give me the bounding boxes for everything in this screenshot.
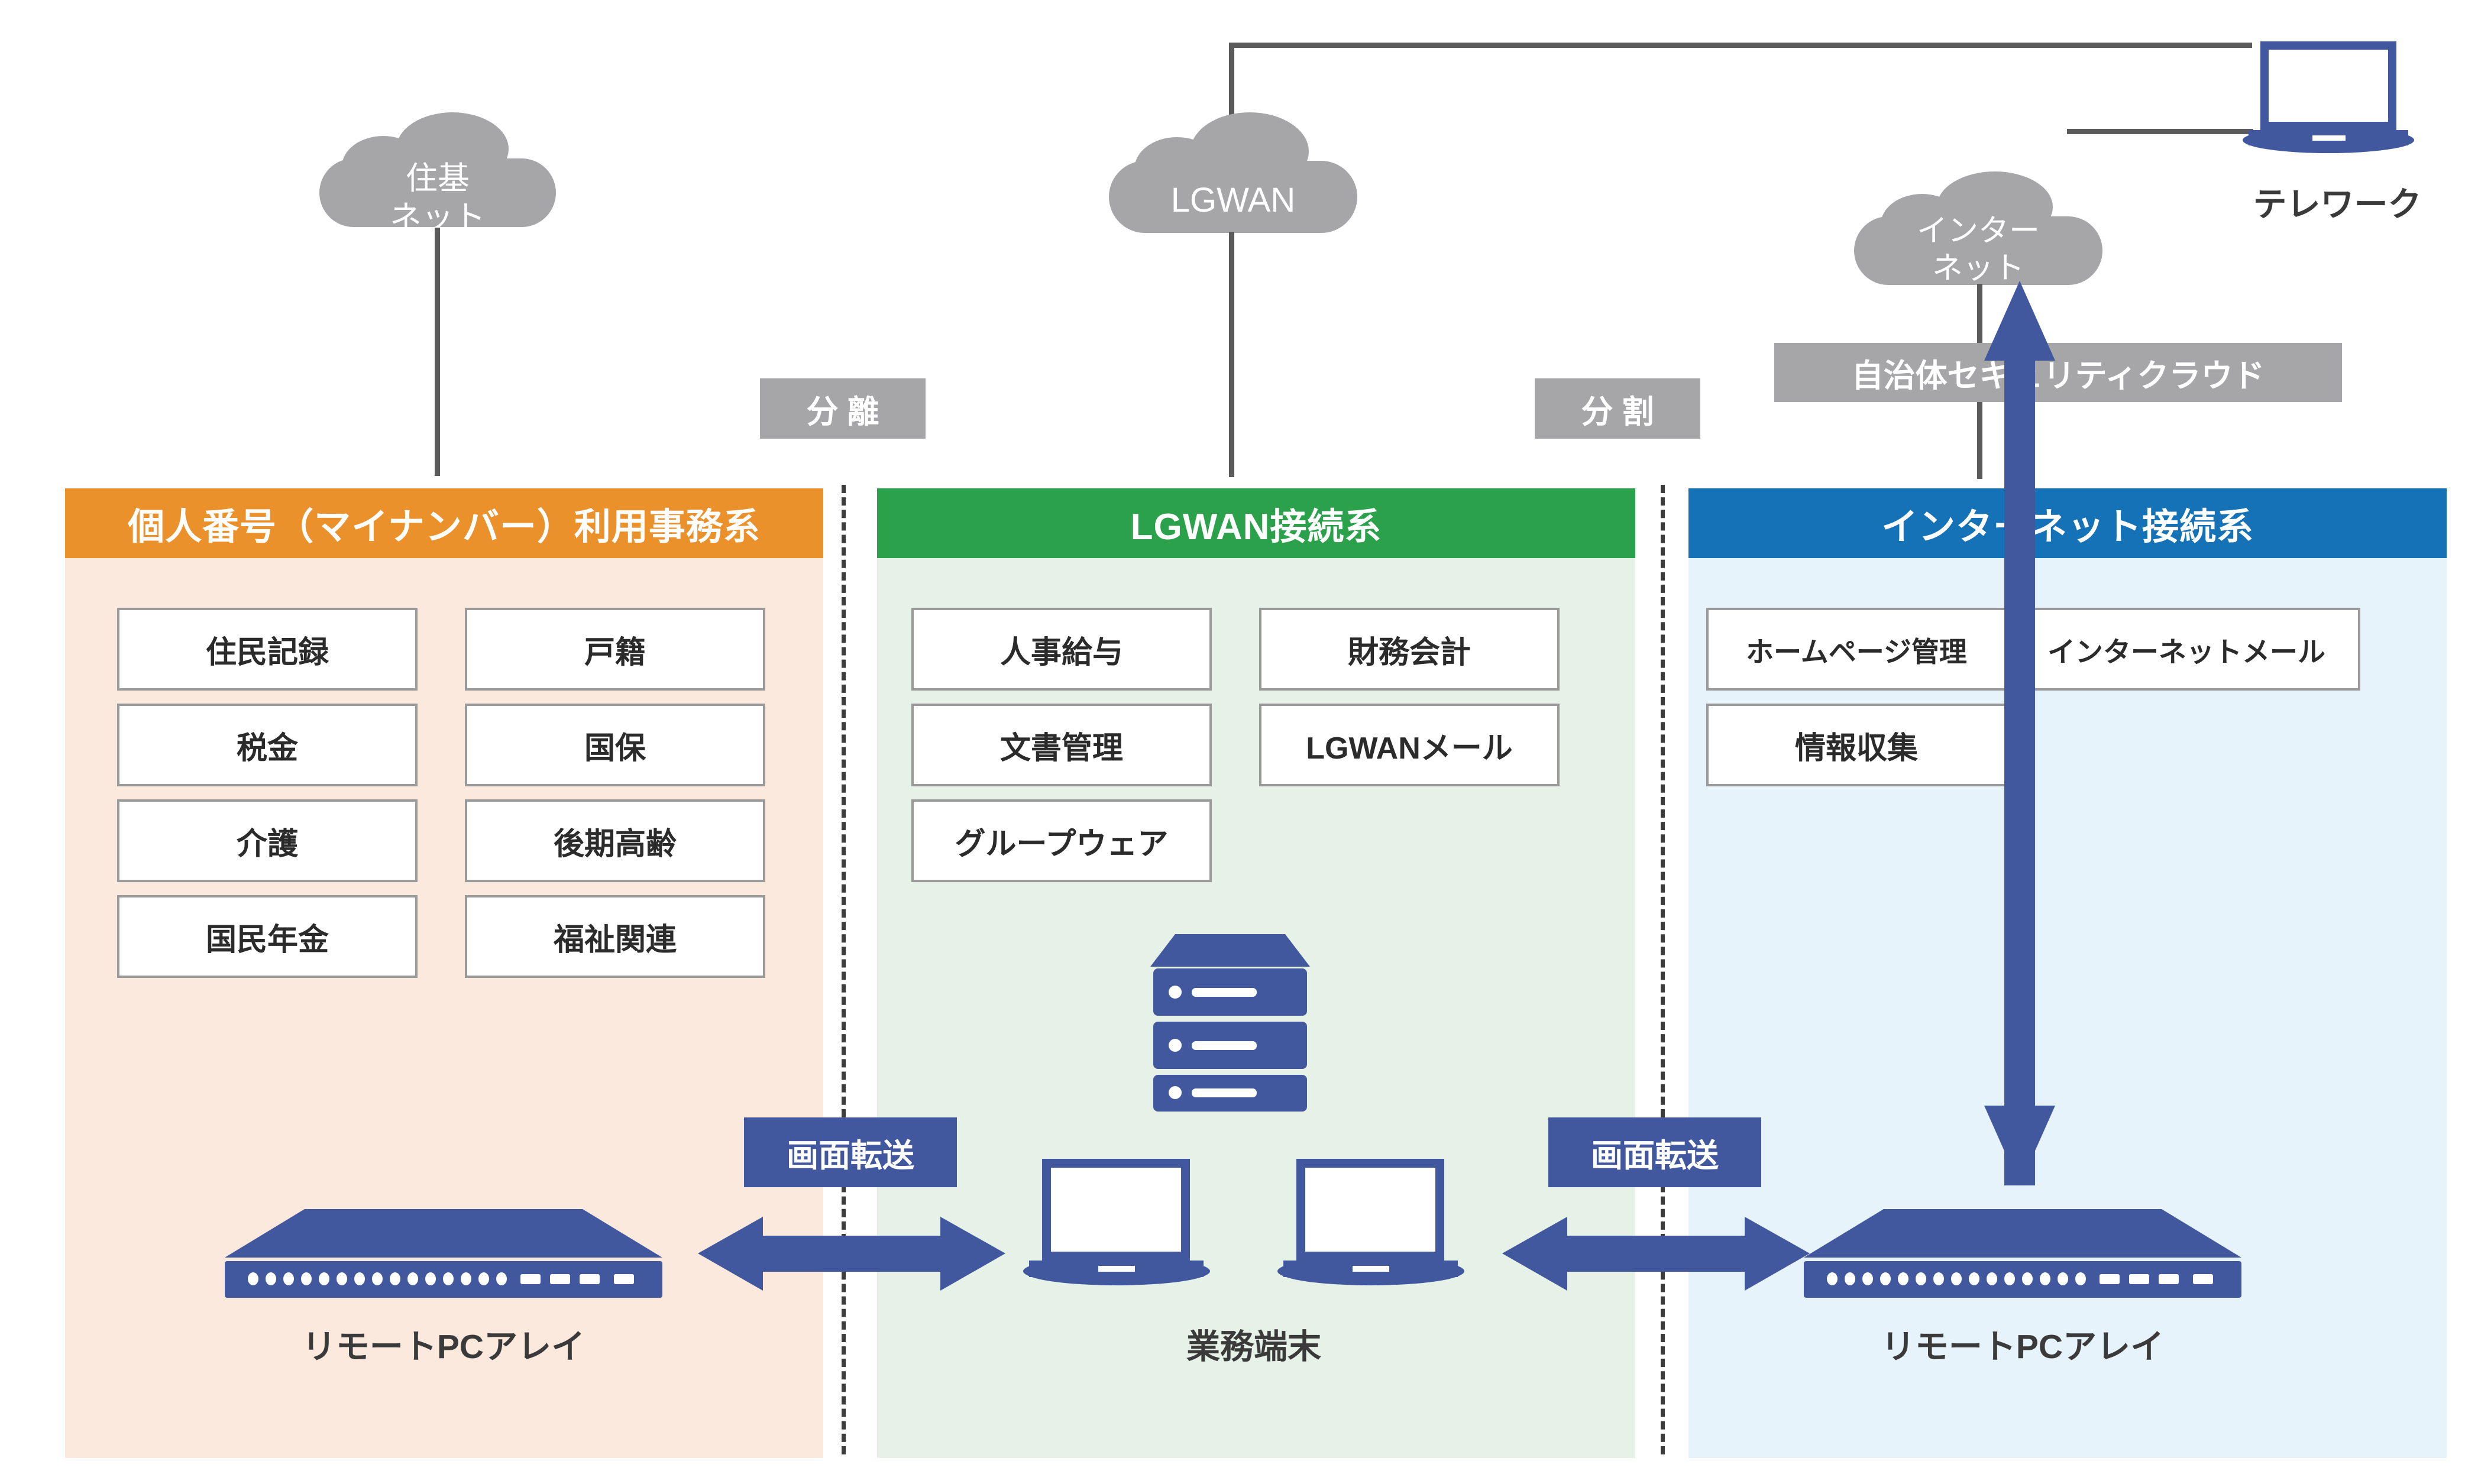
service-box[interactable]: 国民年金 xyxy=(117,895,418,978)
diagram-canvas: 住基 ネット LGWAN インター ネット xyxy=(0,0,2465,1484)
business-terminal-caption: 業務端末 xyxy=(1112,1320,1396,1368)
service-box[interactable]: 国保 xyxy=(465,704,765,786)
security-cloud-chip: 自治体セキュリティクラウド xyxy=(1774,343,2342,402)
screen-transfer-arrow-right xyxy=(1502,1217,1810,1291)
cloud-lgwan-label: LGWAN xyxy=(1091,180,1375,220)
service-label: 福祉関連 xyxy=(554,915,677,959)
service-label: 国保 xyxy=(584,723,646,767)
remote-pc-array-left-caption: リモートPCアレイ xyxy=(237,1320,651,1368)
service-box[interactable]: ホームページ管理 xyxy=(1706,608,2007,691)
screen-transfer-arrow-left xyxy=(698,1217,1005,1291)
service-box[interactable]: 住民記録 xyxy=(117,608,418,691)
service-box[interactable]: 福祉関連 xyxy=(465,895,765,978)
service-label: 人事給与 xyxy=(1000,627,1123,672)
service-box[interactable]: 財務会計 xyxy=(1259,608,1560,691)
column-internet: インターネット接続系 ホームページ管理 インターネットメール 情報収集 xyxy=(1688,488,2447,1458)
service-label: ホームページ管理 xyxy=(1746,629,1967,670)
separator-label: 分 割 xyxy=(1581,385,1654,432)
lgwan-down-line xyxy=(1229,232,1234,477)
juki-net-down-line xyxy=(435,228,440,476)
service-label: 財務会計 xyxy=(1348,627,1471,672)
cloud-label-line2: ネット xyxy=(1836,250,2120,287)
service-box[interactable]: 介護 xyxy=(117,799,418,882)
service-box[interactable]: グループウェア xyxy=(911,799,1212,882)
dashed-separator-left xyxy=(842,485,846,1454)
column-header-mynumber: 個人番号（マイナンバー）利用事務系 xyxy=(65,488,823,558)
service-label: 情報収集 xyxy=(1795,723,1918,767)
internet-uplink-arrow xyxy=(1984,281,2055,1185)
cloud-juki-net-label: 住基 ネット xyxy=(302,160,574,238)
screen-transfer-label: 画面転送 xyxy=(1591,1129,1719,1176)
service-label: 住民記録 xyxy=(206,627,329,672)
telework-caption: テレワーク xyxy=(2219,177,2456,226)
service-box[interactable]: 戸籍 xyxy=(465,608,765,691)
security-cloud-label: 自治体セキュリティクラウド xyxy=(1852,349,2265,396)
service-label: 後期高齢 xyxy=(554,819,677,863)
remote-pc-array-right-caption: リモートPCアレイ xyxy=(1816,1320,2230,1368)
remote-pc-array-right-icon xyxy=(1804,1209,2241,1292)
remote-pc-array-left-icon xyxy=(225,1209,662,1292)
column-header-label: 個人番号（マイナンバー）利用事務系 xyxy=(128,497,761,550)
service-box[interactable]: インターネットメール xyxy=(2013,608,2360,691)
column-header-label: LGWAN接続系 xyxy=(1131,497,1382,550)
service-label: インターネットメール xyxy=(2047,629,2325,670)
business-terminal-laptop-1-icon xyxy=(1023,1156,1218,1292)
service-label: 戸籍 xyxy=(584,627,646,672)
column-header-internet: インターネット接続系 xyxy=(1688,488,2447,558)
internet-downlink-arrow xyxy=(1984,1106,2055,1185)
service-label: 税金 xyxy=(237,723,298,767)
service-box[interactable]: 人事給与 xyxy=(911,608,1212,691)
service-label: 介護 xyxy=(237,819,298,863)
column-header-lgwan: LGWAN接続系 xyxy=(877,488,1635,558)
column-header-label: インターネット接続系 xyxy=(1881,497,2254,550)
cloud-internet-label: インター ネット xyxy=(1836,213,2120,288)
separator-chip-bunri: 分 離 xyxy=(760,378,926,439)
service-box[interactable]: 文書管理 xyxy=(911,704,1212,786)
service-label: 国民年金 xyxy=(206,915,329,959)
separator-label: 分 離 xyxy=(806,385,879,432)
lgwan-to-telework-line xyxy=(1229,43,2252,48)
service-label: LGWANメール xyxy=(1306,723,1513,767)
dashed-separator-right xyxy=(1661,485,1665,1454)
separator-chip-bunkatsu: 分 割 xyxy=(1535,378,1700,439)
service-box[interactable]: 情報収集 xyxy=(1706,704,2007,786)
column-mynumber: 個人番号（マイナンバー）利用事務系 住民記録 戸籍 税金 国保 介護 後期高齢 … xyxy=(65,488,823,1458)
server-stack-icon xyxy=(1150,934,1310,1112)
internet-to-telework-line xyxy=(2067,129,2253,134)
business-terminal-laptop-2-icon xyxy=(1277,1156,1473,1292)
telework-laptop-icon xyxy=(2243,37,2432,155)
service-box[interactable]: 後期高齢 xyxy=(465,799,765,882)
cloud-label-line1: インター xyxy=(1836,213,2120,250)
screen-transfer-chip-left: 画面転送 xyxy=(744,1117,957,1187)
service-label: 文書管理 xyxy=(1000,723,1123,767)
screen-transfer-label: 画面転送 xyxy=(787,1129,914,1176)
cloud-label-line1: 住基 xyxy=(302,160,574,199)
service-label: グループウェア xyxy=(955,819,1169,863)
service-box[interactable]: 税金 xyxy=(117,704,418,786)
cloud-label-line1: LGWAN xyxy=(1091,180,1375,220)
screen-transfer-chip-right: 画面転送 xyxy=(1548,1117,1761,1187)
service-box[interactable]: LGWANメール xyxy=(1259,704,1560,786)
